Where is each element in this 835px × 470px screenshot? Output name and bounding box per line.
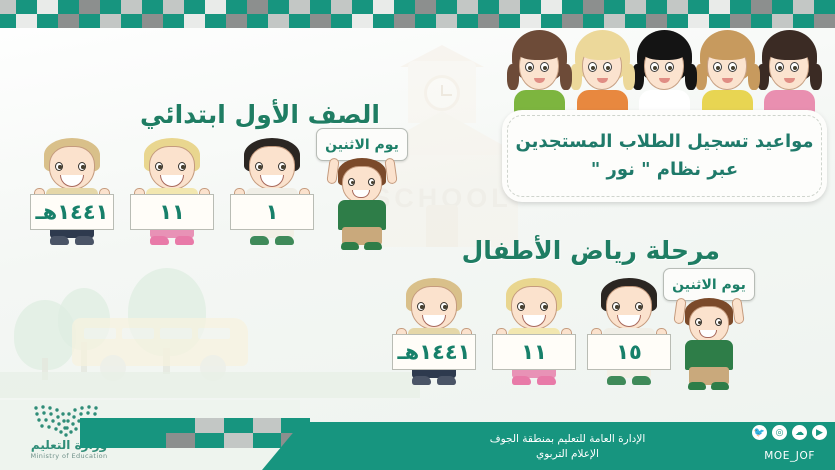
kid-shoe-left (250, 236, 269, 245)
number-sign: ١٥ (587, 334, 671, 370)
bus-wheel-right (200, 355, 226, 381)
kid-eye-left (525, 62, 534, 72)
heading-kindergarten: مرحلة رياض الأطفال (462, 236, 720, 265)
main-title-line-1: مواعيد تسجيل الطلاب المستجدين (515, 131, 813, 154)
checker-cell (457, 14, 478, 28)
checker-cell (583, 14, 604, 28)
kid-shoe-right (175, 236, 194, 245)
checker-cell (751, 0, 772, 14)
kid-eye-right (78, 162, 86, 171)
number-sign: ١٤٤١هـ (392, 334, 476, 370)
kid-shoe-right (437, 376, 456, 385)
checker-cell (247, 14, 268, 28)
checker-cell (289, 14, 310, 28)
tree-watermark-3 (128, 268, 206, 356)
kid-shoe-left (341, 242, 359, 250)
checker-cell (352, 14, 373, 28)
checker-cell (793, 14, 814, 28)
tree-watermark-2 (58, 288, 110, 350)
kid-eye-left (588, 62, 597, 72)
main-title-card: مواعيد تسجيل الطلاب المستجدين عبر نظام "… (502, 110, 827, 202)
checker-cell (163, 0, 184, 14)
checker-cell (226, 14, 247, 28)
checker-cell (751, 14, 772, 28)
youtube-icon[interactable]: ▶ (812, 425, 827, 440)
checker-cell (331, 14, 352, 28)
kid-shoe-left (50, 236, 69, 245)
checker-cell (79, 0, 100, 14)
checker-cell (772, 14, 793, 28)
kid-face (689, 306, 729, 344)
footer-line-2: الإعلام التربوي (300, 447, 835, 462)
bus-window-3 (160, 328, 192, 339)
checker-row-top (0, 0, 835, 14)
day-label-kid: يوم الاثنين (318, 128, 406, 246)
kid-shoe-right (364, 242, 382, 250)
kid-hair-side-right (810, 64, 822, 90)
kid-eye-right (540, 62, 549, 72)
top-checker-band (0, 0, 835, 28)
checker-cell (80, 418, 109, 433)
kid-hair-side-right (748, 64, 760, 90)
checker-cell (814, 0, 835, 14)
footer: وزارة التعليم Ministry of Education الإد… (0, 400, 835, 470)
checker-cell (352, 0, 373, 14)
footer-wedge (262, 422, 302, 470)
checker-cell (478, 14, 499, 28)
checker-cell (184, 0, 205, 14)
kid-shoe-right (537, 376, 556, 385)
checker-cell (604, 0, 625, 14)
kid-eye-left (713, 62, 722, 72)
kid-shoe-right (275, 236, 294, 245)
kid-shoe-right (75, 236, 94, 245)
checker-cell (121, 14, 142, 28)
checker-cell (331, 0, 352, 14)
school-bus-watermark (72, 318, 248, 366)
checker-cell (0, 14, 16, 28)
checker-cell (499, 14, 520, 28)
poster-canvas: SCHOOL مواعيد تسجيل الطلاب المستجدين عبر… (0, 0, 835, 470)
kid-eye-right (278, 162, 286, 171)
kid-hair-side-right (685, 64, 697, 90)
checker-cell (138, 418, 167, 433)
sign-kid: ١١ (490, 278, 578, 386)
kid-hair-side-right (623, 64, 635, 90)
checker-cell (0, 0, 16, 14)
bus-window-2 (122, 328, 154, 339)
checker-cell (562, 0, 583, 14)
main-title-line-2: عبر نظام " نور " (591, 159, 738, 182)
checker-cell (646, 14, 667, 28)
kid-shoe-right (632, 376, 651, 385)
kid-shoe-left (688, 382, 706, 390)
checker-cell (373, 0, 394, 14)
checker-cell (457, 0, 478, 14)
checker-cell (625, 14, 646, 28)
checker-cell (163, 14, 184, 28)
number-sign-value: ١٥ (616, 342, 642, 363)
kid-fringe (704, 36, 751, 60)
checker-cell (625, 0, 646, 14)
kid-fringe (641, 36, 688, 60)
checker-cell (80, 433, 109, 448)
checker-cell (166, 433, 195, 448)
kid-shoe-left (412, 376, 431, 385)
day-label-text: يوم الاثنين (672, 277, 746, 293)
ministry-name-english: Ministry of Education (14, 452, 124, 460)
sign-kid: ١ (228, 138, 316, 246)
kid-eye-right (728, 62, 737, 72)
checker-cell (247, 0, 268, 14)
checker-cell (142, 14, 163, 28)
day-label-text: يوم الاثنين (325, 137, 399, 153)
kid-shoe-left (150, 236, 169, 245)
sign-kid: ١٥ (585, 278, 673, 386)
checker-cell (16, 14, 37, 28)
kid-eye-left (517, 302, 525, 311)
checker-cell (667, 0, 688, 14)
checker-cell (709, 0, 730, 14)
checker-cell (541, 14, 562, 28)
kid-eye-left (417, 302, 425, 311)
checker-cell (289, 0, 310, 14)
kid-arm-right (384, 157, 398, 184)
checker-cell (100, 0, 121, 14)
checker-cell (772, 0, 793, 14)
checker-cell (268, 14, 289, 28)
kid-shirt (338, 200, 386, 230)
checker-cell (195, 433, 224, 448)
kid-shoe-right (711, 382, 729, 390)
checker-cell (224, 418, 253, 433)
number-sign: ١٤٤١هـ (30, 194, 114, 230)
number-sign-value: ١٤٤١هـ (35, 202, 108, 223)
checker-cell (310, 14, 331, 28)
checker-cell (436, 14, 457, 28)
checker-cell (667, 14, 688, 28)
number-sign: ١١ (492, 334, 576, 370)
clock-tower (408, 61, 476, 123)
clock-icon (424, 75, 460, 111)
twitter-icon[interactable]: 🐦 (752, 425, 767, 440)
ground-strip (0, 372, 420, 398)
checker-cell (166, 418, 195, 433)
kid-fringe (766, 36, 813, 60)
bus-window-4 (198, 328, 230, 339)
number-sign-value: ١١ (521, 342, 547, 363)
checker-cell (646, 0, 667, 14)
kid-eye-left (695, 318, 702, 326)
kid-eye-right (603, 62, 612, 72)
tree-watermark-1 (14, 300, 76, 370)
checker-cell (205, 0, 226, 14)
kid-eye-right (368, 178, 375, 186)
social-icons-row[interactable]: 🐦◎☁▶ (752, 425, 827, 440)
sign-kid: ١١ (128, 138, 216, 246)
kid-face (342, 166, 382, 204)
checker-cell (310, 0, 331, 14)
day-label-board: يوم الاثنين (316, 128, 408, 161)
kid-fringe (579, 36, 626, 60)
snapchat-icon[interactable]: ☁ (792, 425, 807, 440)
kid-eye-right (635, 302, 643, 311)
number-sign-value: ١٤٤١هـ (397, 342, 470, 363)
footer-bar: الإدارة العامة للتعليم بمنطقة الجوف الإع… (300, 422, 835, 470)
kid-eye-left (155, 162, 163, 171)
instagram-icon[interactable]: ◎ (772, 425, 787, 440)
tree-trunk-1 (42, 358, 48, 380)
kid-eye-right (540, 302, 548, 311)
checker-cell (688, 14, 709, 28)
checker-cell (415, 14, 436, 28)
checker-cell (373, 14, 394, 28)
kid-eye-left (55, 162, 63, 171)
checker-cell (394, 0, 415, 14)
checker-cell (268, 0, 289, 14)
checker-cell (37, 14, 58, 28)
heading-grade-one: الصف الأول ابتدائي (140, 100, 380, 129)
kid-eye-left (612, 302, 620, 311)
checker-cell (814, 14, 835, 28)
checker-cell (100, 14, 121, 28)
checker-cell (730, 14, 751, 28)
kid-hair-side-left (507, 64, 519, 90)
number-sign: ١١ (130, 194, 214, 230)
checker-cell (226, 0, 247, 14)
checker-cell (415, 0, 436, 14)
kid-shoe-left (512, 376, 531, 385)
kid-shirt (685, 340, 733, 370)
checker-cell (709, 14, 730, 28)
checker-cell (688, 0, 709, 14)
checker-cell (37, 0, 58, 14)
checker-cell (478, 0, 499, 14)
checker-cell (205, 14, 226, 28)
checker-cell (520, 0, 541, 14)
tree-trunk-2 (81, 342, 87, 372)
checker-cell (58, 14, 79, 28)
tower-roof (400, 45, 484, 67)
kid-eye-left (348, 178, 355, 186)
social-handle: MOE_JOF (764, 450, 815, 462)
bus-window-1 (84, 328, 116, 339)
checker-cell (184, 14, 205, 28)
checker-cell (793, 0, 814, 14)
sign-kid: ١٤٤١هـ (390, 278, 478, 386)
number-sign-value: ١ (266, 202, 279, 223)
checker-cell (436, 0, 457, 14)
checker-cell (109, 433, 138, 448)
number-sign-value: ١١ (159, 202, 185, 223)
day-label-board: يوم الاثنين (663, 268, 755, 301)
checker-cell (58, 0, 79, 14)
checker-cell (394, 14, 415, 28)
kid-arm-right (731, 297, 745, 324)
checker-cell (142, 0, 163, 14)
tree-trunk-3 (163, 348, 170, 374)
kid-hair-side-right (560, 64, 572, 90)
bus-wheel-left (100, 355, 126, 381)
checker-cell (121, 0, 142, 14)
checker-cell (224, 433, 253, 448)
checker-cell (499, 0, 520, 14)
checker-row-bottom (0, 14, 835, 28)
checker-cell (16, 0, 37, 14)
kid-eye-right (440, 302, 448, 311)
checker-cell (109, 418, 138, 433)
kid-eye-right (715, 318, 722, 326)
kid-fringe (516, 36, 563, 60)
checker-cell (604, 14, 625, 28)
kid-eye-right (178, 162, 186, 171)
checker-cell (730, 0, 751, 14)
kid-eye-left (255, 162, 263, 171)
checker-cell (541, 0, 562, 14)
checker-cell (138, 433, 167, 448)
number-sign: ١ (230, 194, 314, 230)
sign-kid: ١٤٤١هـ (28, 138, 116, 246)
checker-cell (195, 418, 224, 433)
checker-cell (562, 14, 583, 28)
hero-block: مواعيد تسجيل الطلاب المستجدين عبر نظام "… (502, 26, 827, 206)
day-label-kid: يوم الاثنين (665, 268, 753, 386)
checker-cell (520, 14, 541, 28)
checker-cell (79, 14, 100, 28)
kid-shoe-left (607, 376, 626, 385)
checker-cell (583, 0, 604, 14)
school-door (426, 205, 458, 247)
